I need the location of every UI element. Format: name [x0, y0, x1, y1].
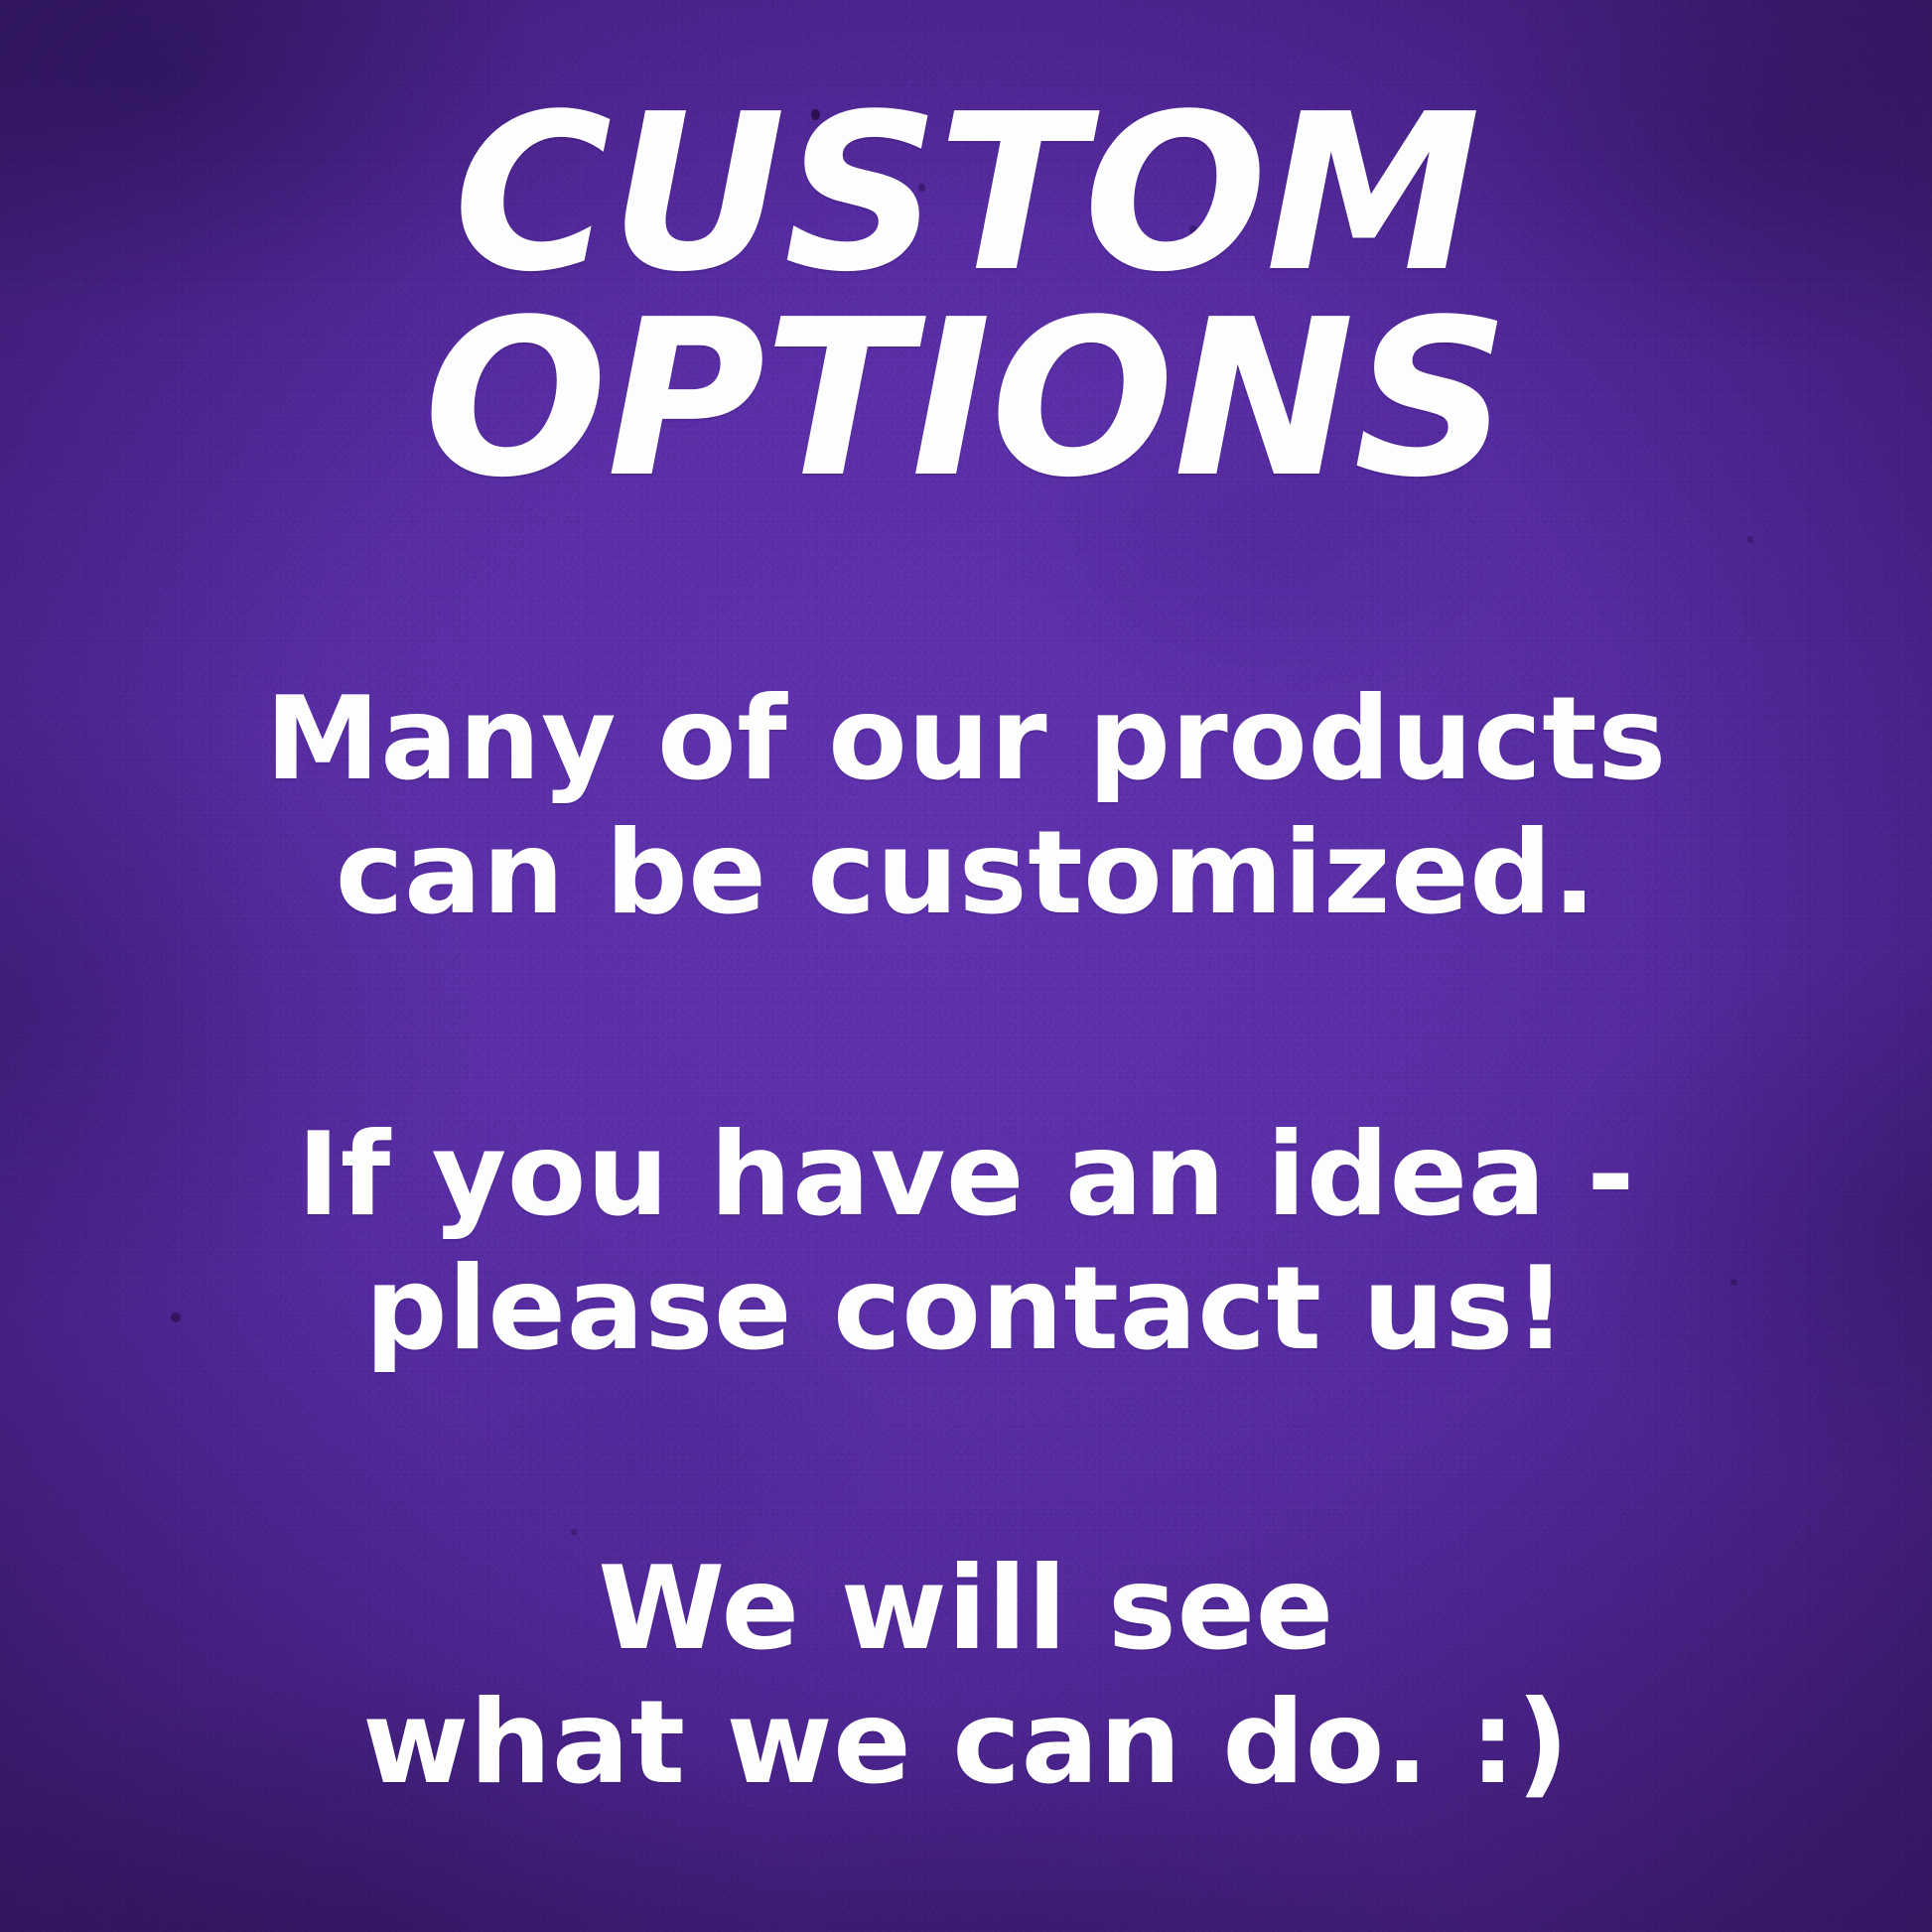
body-paragraph-1-line-2: can be customized.: [265, 807, 1667, 941]
body-paragraph-2: If you have an idea - please contact us!: [297, 1109, 1635, 1376]
body-paragraph-1: Many of our products can be customized.: [265, 673, 1667, 940]
poster-content: CUSTOM OPTIONS Many of our products can …: [0, 0, 1932, 1932]
page-title: CUSTOM OPTIONS: [0, 91, 1932, 502]
poster-body: Many of our products can be customized. …: [0, 673, 1932, 1810]
page-title-line-2: OPTIONS: [0, 297, 1932, 502]
body-paragraph-3-line-2: what we can do. :): [362, 1677, 1570, 1811]
body-paragraph-1-line-1: Many of our products: [265, 673, 1667, 807]
body-paragraph-2-line-1: If you have an idea -: [297, 1109, 1635, 1243]
page-title-line-1: CUSTOM: [0, 91, 1932, 297]
body-paragraph-2-line-2: please contact us!: [297, 1243, 1635, 1377]
custom-options-poster: CUSTOM OPTIONS Many of our products can …: [0, 0, 1932, 1932]
body-paragraph-3-line-1: We will see: [362, 1543, 1570, 1677]
body-paragraph-3: We will see what we can do. :): [362, 1543, 1570, 1810]
